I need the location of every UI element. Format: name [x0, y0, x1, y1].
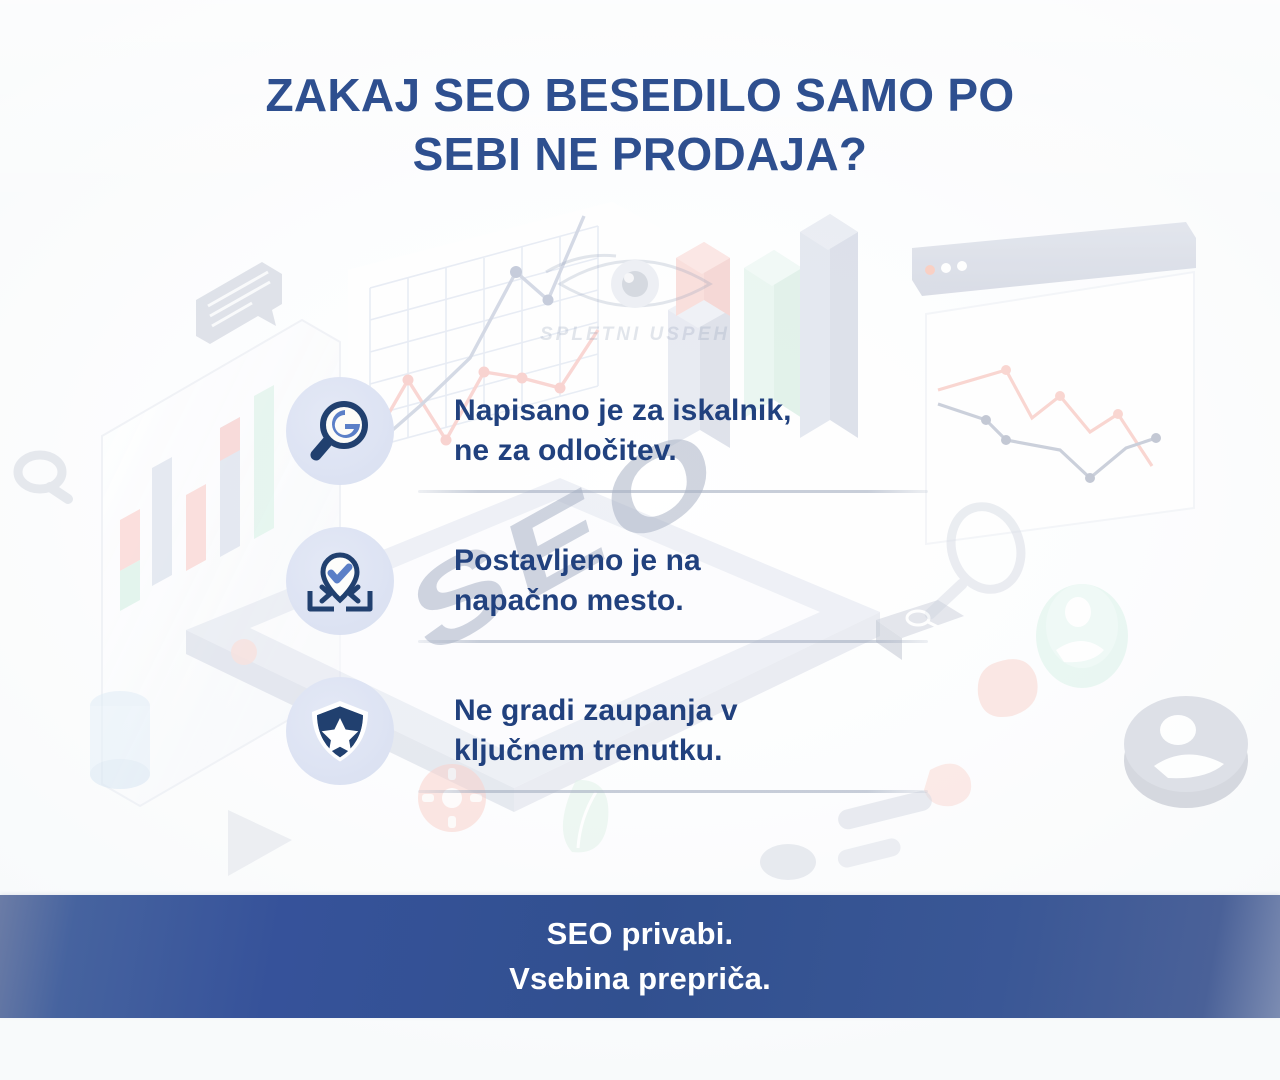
magnifier-outline-icon: [18, 455, 68, 499]
list-item: Napisano je za iskalnik, ne za odločitev…: [286, 356, 946, 506]
cylinder-shape: [90, 691, 150, 789]
footer-line-1: SEO privabi.: [547, 912, 734, 956]
magnifier-google-icon: [304, 395, 376, 467]
page-title-line-2: SEBI NE PRODAJA?: [0, 125, 1280, 184]
shield-star-icon: [304, 695, 376, 767]
watermark-text: SPLETNI USPEH: [520, 324, 750, 346]
shield-star-icon-badge: [286, 677, 394, 785]
list-item: Ne gradi zaupanja v ključnem trenutku.: [286, 656, 946, 806]
speech-bubble-icon: [196, 262, 282, 344]
page-title-line-1: ZAKAJ SEO BESEDILO SAMO PO: [0, 66, 1280, 125]
footer-banner: SEO privabi. Vsebina prepriča.: [0, 895, 1280, 1018]
list-item-label: Postavljeno je na napačno mesto.: [454, 541, 701, 620]
map-pin-check-icon: [304, 545, 376, 617]
browser-window-panel: [912, 222, 1196, 544]
footer-line-2: Vsebina prepriča.: [509, 957, 771, 1001]
play-triangle-icon: [228, 810, 292, 876]
page-title: ZAKAJ SEO BESEDILO SAMO PO SEBI NE PRODA…: [0, 66, 1280, 184]
list-item-label: Napisano je za iskalnik, ne za odločitev…: [454, 391, 792, 470]
list-item-label: Ne gradi zaupanja v ključnem trenutku.: [454, 691, 738, 770]
list-item: Postavljeno je na napačno mesto.: [286, 506, 946, 656]
reasons-list: Napisano je za iskalnik, ne za odločitev…: [286, 356, 946, 806]
magnifier-google-icon-badge: [286, 377, 394, 485]
watermark: SPLETNI USPEH: [520, 236, 750, 366]
map-pin-check-icon-badge: [286, 527, 394, 635]
user-avatar-coin-gray: [1124, 696, 1248, 808]
user-avatar-coin-green: [1036, 584, 1128, 688]
eye-icon: [520, 236, 750, 326]
infographic-canvas: SEO SPLETNI USPEH ZAKAJ SEO BESEDILO SAM…: [0, 0, 1280, 1080]
